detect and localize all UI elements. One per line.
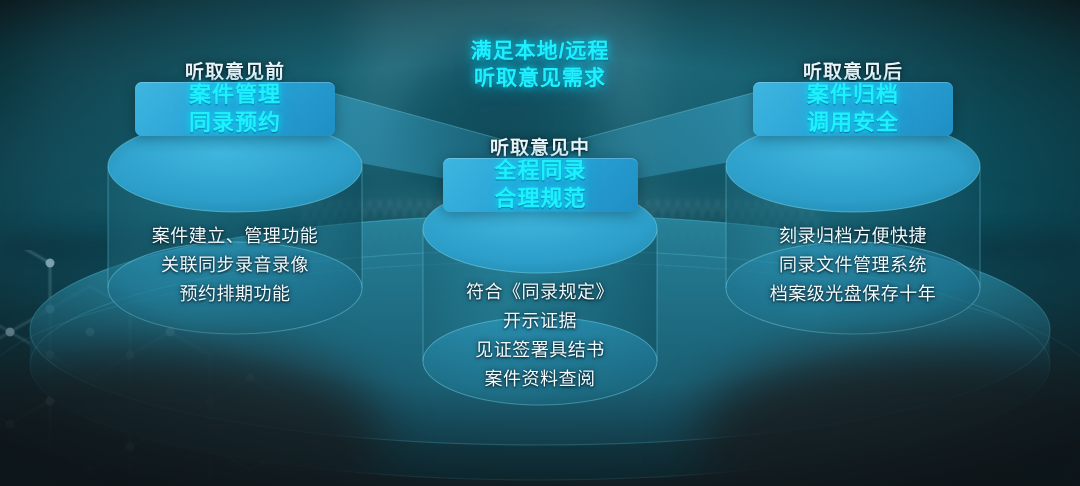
card-line: 案件归档 bbox=[807, 81, 899, 109]
card-line: 调用安全 bbox=[807, 109, 899, 137]
stage-cylinder-during bbox=[415, 185, 665, 420]
stage-card-during[interactable]: 全程同录 合理规范 bbox=[443, 158, 638, 212]
card-line: 合理规范 bbox=[494, 185, 586, 213]
stage-card-after[interactable]: 案件归档 调用安全 bbox=[753, 82, 953, 136]
stage-card-before[interactable]: 案件管理 同录预约 bbox=[135, 82, 335, 136]
card-line: 全程同录 bbox=[494, 157, 586, 185]
card-line: 同录预约 bbox=[189, 109, 281, 137]
card-line: 案件管理 bbox=[189, 81, 281, 109]
stage-cylinder-before bbox=[100, 120, 370, 350]
stage-cylinder-after bbox=[718, 120, 988, 350]
infographic-stage: 案件建立、管理功能 关联同步录音录像 预约排期功能 符合《同录规定》 开示证据 … bbox=[0, 0, 1080, 486]
